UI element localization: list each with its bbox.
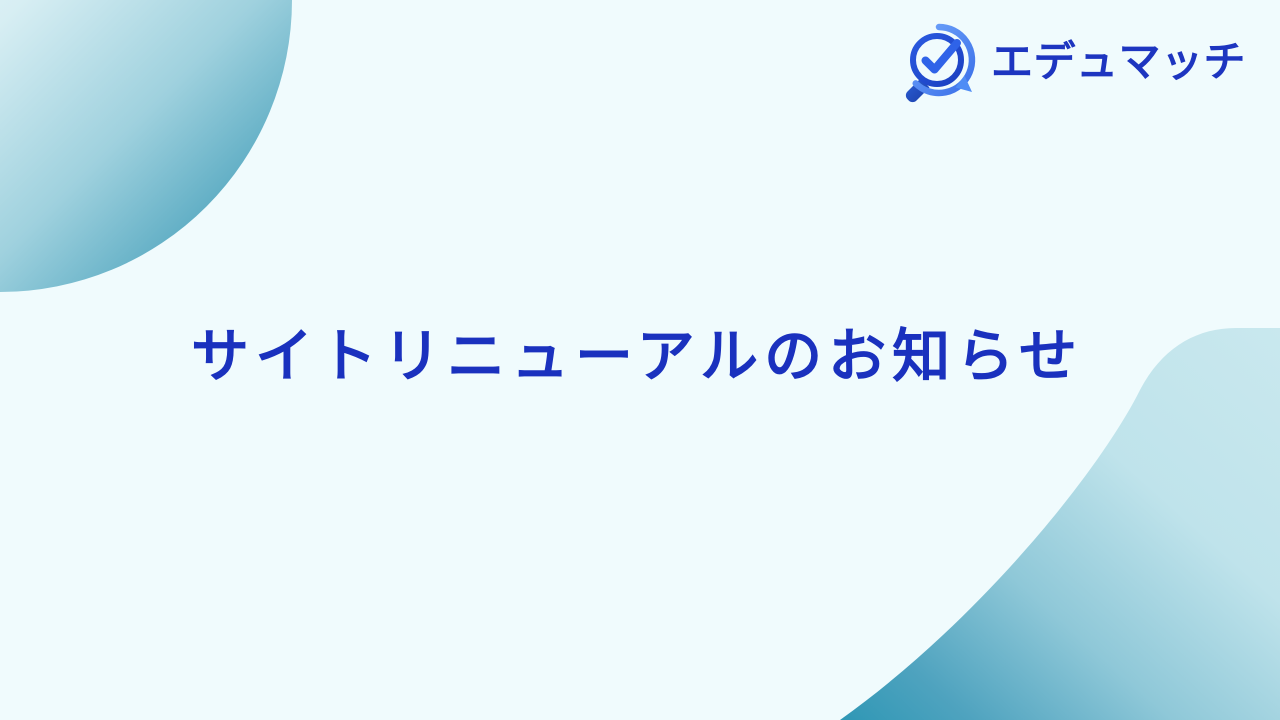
page-title: サイトリニューアルのお知らせ	[191, 320, 1089, 393]
announcement-banner: エデュマッチ サイトリニューアルのお知らせ	[0, 0, 1280, 720]
title-container: サイトリニューアルのお知らせ	[0, 0, 1280, 720]
